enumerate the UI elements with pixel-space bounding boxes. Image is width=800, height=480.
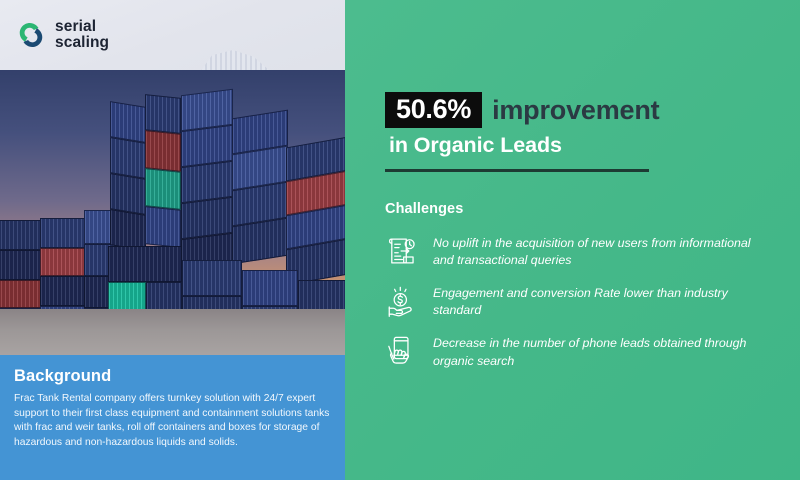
result-headline: 50.6% improvement in Organic Leads (385, 92, 774, 172)
headline-primary-row: 50.6% improvement (385, 92, 774, 128)
background-title: Background (14, 367, 331, 386)
document-clock-icon (385, 234, 419, 268)
hand-holding-coin-icon (385, 284, 419, 318)
improvement-subject: in Organic Leads (385, 133, 774, 158)
shipping-container-photo (0, 70, 345, 355)
background-body: Frac Tank Rental company offers turnkey … (14, 392, 331, 450)
brand-name-line2: scaling (55, 35, 109, 51)
list-item: No uplift in the acquisition of new user… (385, 233, 774, 269)
list-item: Decrease in the number of phone leads ob… (385, 333, 774, 369)
improvement-stat-badge: 50.6% (385, 92, 482, 128)
brand-wordmark: serial scaling (55, 19, 109, 51)
brand-logo[interactable]: serial scaling (16, 19, 109, 51)
list-item-text: Engagement and conversion Rate lower tha… (433, 283, 774, 319)
list-item: Engagement and conversion Rate lower tha… (385, 283, 774, 319)
background-section: Background Frac Tank Rental company offe… (0, 355, 345, 480)
serial-scaling-s-logo-icon (16, 20, 46, 50)
challenges-heading: Challenges (385, 201, 774, 217)
brand-header: serial scaling (0, 0, 345, 70)
brand-name-line1: serial (55, 19, 109, 35)
list-item-text: No uplift in the acquisition of new user… (433, 233, 774, 269)
ground-plane (0, 309, 345, 355)
challenges-list: No uplift in the acquisition of new user… (385, 233, 774, 370)
case-study-infographic: serial scaling (0, 0, 800, 480)
left-column: serial scaling (0, 0, 345, 480)
improvement-word: improvement (492, 95, 659, 126)
right-column: 50.6% improvement in Organic Leads Chall… (345, 0, 800, 480)
list-item-text: Decrease in the number of phone leads ob… (433, 333, 774, 369)
hand-tapping-phone-icon (385, 334, 419, 368)
headline-divider (385, 169, 649, 172)
